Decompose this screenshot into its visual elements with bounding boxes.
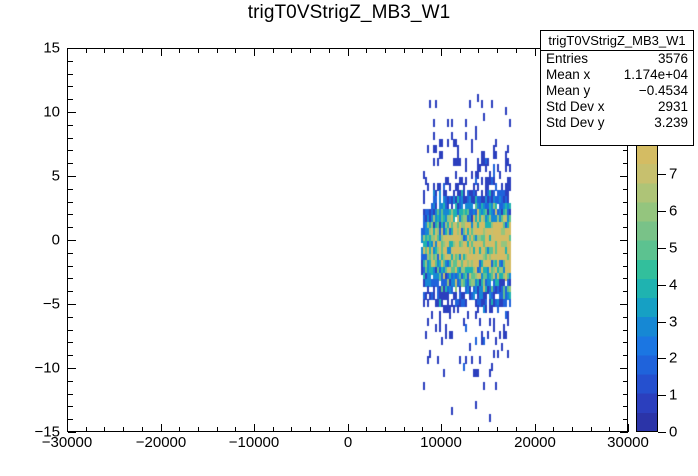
y-tick-major-right <box>620 368 628 369</box>
y-axis-label: −10 <box>18 360 60 377</box>
y-tick-minor <box>68 330 73 331</box>
x-tick-minor-top <box>273 48 274 53</box>
y-tick-minor <box>68 394 73 395</box>
palette-label: 2 <box>669 350 677 367</box>
x-tick-major-top <box>348 48 349 56</box>
x-tick-major <box>67 424 68 432</box>
x-tick-minor <box>460 427 461 432</box>
y-tick-minor-right <box>623 150 628 151</box>
x-tick-major <box>535 424 536 432</box>
stats-row: Std Dev x2931 <box>541 99 693 115</box>
y-tick-major <box>68 432 76 433</box>
y-tick-major <box>68 304 76 305</box>
palette-label: 6 <box>669 203 677 220</box>
x-tick-minor <box>553 427 554 432</box>
x-tick-major-top <box>441 48 442 56</box>
y-tick-minor-right <box>623 202 628 203</box>
y-tick-minor <box>68 381 73 382</box>
y-tick-major <box>68 368 76 369</box>
x-tick-major <box>254 424 255 432</box>
x-tick-minor-top <box>198 48 199 53</box>
x-axis-label: −10000 <box>229 434 279 451</box>
y-tick-minor-right <box>623 278 628 279</box>
palette-tick <box>658 211 666 212</box>
x-axis-label: 20000 <box>514 434 556 451</box>
y-tick-minor <box>68 342 73 343</box>
y-tick-minor <box>68 61 73 62</box>
palette-label: 5 <box>669 240 677 257</box>
x-tick-minor-top <box>516 48 517 53</box>
x-tick-minor-top <box>422 48 423 53</box>
y-tick-minor <box>68 125 73 126</box>
x-tick-minor <box>123 427 124 432</box>
y-tick-major <box>68 112 76 113</box>
x-tick-major-top <box>254 48 255 56</box>
x-tick-minor <box>516 427 517 432</box>
x-tick-minor <box>609 427 610 432</box>
color-palette-bar: 01234567 <box>636 145 658 432</box>
y-tick-minor <box>68 150 73 151</box>
y-tick-minor <box>68 189 73 190</box>
palette-label: 1 <box>669 387 677 404</box>
x-axis-label: −20000 <box>136 434 186 451</box>
y-axis-label: 10 <box>18 104 60 121</box>
x-tick-minor <box>366 427 367 432</box>
y-tick-minor-right <box>623 342 628 343</box>
y-tick-major-right <box>620 176 628 177</box>
y-tick-minor-right <box>623 317 628 318</box>
y-tick-minor <box>68 291 73 292</box>
y-tick-minor-right <box>623 381 628 382</box>
x-tick-minor <box>179 427 180 432</box>
x-tick-major <box>441 424 442 432</box>
x-axis-label: 0 <box>344 434 352 451</box>
stats-row-value: 2931 <box>658 99 688 115</box>
y-axis-label: −5 <box>18 296 60 313</box>
y-tick-minor-right <box>623 291 628 292</box>
x-tick-minor-top <box>235 48 236 53</box>
stats-row-value: 1.174e+04 <box>624 67 688 83</box>
x-tick-minor-top <box>497 48 498 53</box>
y-tick-minor <box>68 227 73 228</box>
y-tick-minor-right <box>623 227 628 228</box>
stats-box-title: trigT0VStrigZ_MB3_W1 <box>541 31 693 51</box>
y-tick-minor-right <box>623 253 628 254</box>
page-title: trigT0VStrigZ_MB3_W1 <box>0 2 698 24</box>
x-tick-minor <box>329 427 330 432</box>
palette-label: 3 <box>669 314 677 331</box>
y-tick-major-right <box>620 304 628 305</box>
x-tick-minor <box>86 427 87 432</box>
stats-box[interactable]: trigT0VStrigZ_MB3_W1 Entries3576Mean x1.… <box>540 30 694 146</box>
x-tick-minor-top <box>478 48 479 53</box>
stats-row: Entries3576 <box>541 51 693 67</box>
y-tick-minor-right <box>623 394 628 395</box>
palette-tick <box>658 174 666 175</box>
x-tick-minor-top <box>142 48 143 53</box>
x-tick-major <box>348 424 349 432</box>
x-tick-major-top <box>67 48 68 56</box>
palette-tick <box>658 248 666 249</box>
y-tick-minor <box>68 266 73 267</box>
y-tick-minor-right <box>623 355 628 356</box>
y-tick-minor-right <box>623 189 628 190</box>
palette-tick <box>658 285 666 286</box>
stats-row-key: Mean y <box>546 83 590 99</box>
y-tick-minor <box>68 253 73 254</box>
x-tick-minor <box>198 427 199 432</box>
y-tick-minor-right <box>623 266 628 267</box>
x-tick-minor-top <box>291 48 292 53</box>
y-tick-major <box>68 48 76 49</box>
y-tick-minor <box>68 202 73 203</box>
x-tick-minor-top <box>217 48 218 53</box>
palette-tick <box>658 395 666 396</box>
y-axis-label: 15 <box>18 40 60 57</box>
palette-tick <box>658 358 666 359</box>
y-tick-minor <box>68 86 73 87</box>
stats-row: Mean x1.174e+04 <box>541 67 693 83</box>
x-tick-minor-top <box>460 48 461 53</box>
x-tick-minor-top <box>329 48 330 53</box>
x-tick-minor <box>572 427 573 432</box>
stats-box-rows: Entries3576Mean x1.174e+04Mean y−0.4534S… <box>541 51 693 131</box>
palette-label: 7 <box>669 166 677 183</box>
x-tick-minor <box>217 427 218 432</box>
x-tick-minor <box>385 427 386 432</box>
palette-tick <box>658 432 666 433</box>
x-tick-minor <box>497 427 498 432</box>
y-tick-minor-right <box>623 330 628 331</box>
stats-row-key: Std Dev x <box>546 99 605 115</box>
x-tick-minor <box>591 427 592 432</box>
y-axis-label: 5 <box>18 168 60 185</box>
x-tick-minor <box>422 427 423 432</box>
y-tick-minor-right <box>623 419 628 420</box>
stats-row: Mean y−0.4534 <box>541 83 693 99</box>
x-axis-label: 30000 <box>607 434 649 451</box>
x-tick-minor-top <box>86 48 87 53</box>
x-tick-minor-top <box>104 48 105 53</box>
x-tick-minor <box>310 427 311 432</box>
x-tick-minor <box>235 427 236 432</box>
y-tick-minor <box>68 163 73 164</box>
x-tick-major-top <box>161 48 162 56</box>
x-tick-minor <box>142 427 143 432</box>
x-tick-major <box>161 424 162 432</box>
stats-row-key: Entries <box>546 51 588 67</box>
x-tick-minor-top <box>310 48 311 53</box>
x-tick-minor <box>273 427 274 432</box>
stats-row: Std Dev y3.239 <box>541 115 693 131</box>
x-tick-minor-top <box>366 48 367 53</box>
x-tick-minor <box>291 427 292 432</box>
y-tick-minor <box>68 214 73 215</box>
stats-row-value: −0.4534 <box>639 83 688 99</box>
stats-row-value: 3576 <box>658 51 688 67</box>
x-tick-major <box>628 424 629 432</box>
palette-label: 4 <box>669 277 677 294</box>
color-palette-gradient <box>636 145 658 432</box>
y-tick-major <box>68 176 76 177</box>
x-tick-minor-top <box>404 48 405 53</box>
y-tick-minor-right <box>623 214 628 215</box>
y-tick-minor <box>68 278 73 279</box>
y-tick-minor <box>68 99 73 100</box>
x-axis-label: 10000 <box>420 434 462 451</box>
y-tick-minor-right <box>623 406 628 407</box>
y-tick-minor <box>68 317 73 318</box>
x-tick-minor-top <box>179 48 180 53</box>
y-tick-minor <box>68 406 73 407</box>
root-canvas: trigT0VStrigZ_MB3_W1 −30000−20000−100000… <box>0 0 698 476</box>
x-tick-minor-top <box>385 48 386 53</box>
y-tick-major-right <box>620 432 628 433</box>
y-axis-label: −15 <box>18 424 60 441</box>
stats-row-key: Mean x <box>546 67 590 83</box>
palette-tick <box>658 322 666 323</box>
y-tick-minor-right <box>623 163 628 164</box>
color-palette-axis: 01234567 <box>658 145 698 432</box>
x-tick-minor <box>478 427 479 432</box>
x-tick-minor <box>104 427 105 432</box>
palette-label: 0 <box>669 424 677 441</box>
x-tick-minor-top <box>123 48 124 53</box>
stats-row-value: 3.239 <box>654 115 688 131</box>
y-tick-major-right <box>620 240 628 241</box>
y-tick-minor <box>68 74 73 75</box>
y-axis-label: 0 <box>18 232 60 249</box>
y-tick-major <box>68 240 76 241</box>
x-tick-minor <box>404 427 405 432</box>
y-tick-minor <box>68 138 73 139</box>
stats-row-key: Std Dev y <box>546 115 605 131</box>
y-tick-minor <box>68 355 73 356</box>
y-tick-minor <box>68 419 73 420</box>
x-tick-major-top <box>535 48 536 56</box>
